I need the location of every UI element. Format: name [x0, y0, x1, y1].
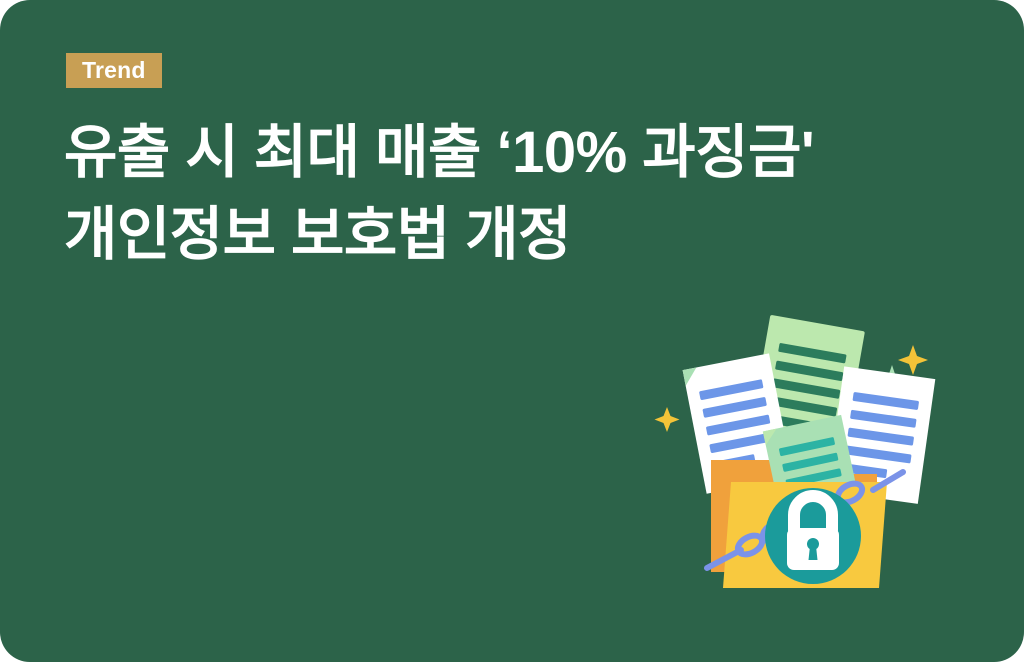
page-title: 유출 시 최대 매출 ‘10% 과징금' 개인정보 보호법 개정 — [64, 112, 964, 277]
trend-card: Trend 유출 시 최대 매출 ‘10% 과징금' 개인정보 보호법 개정 — [0, 0, 1024, 662]
sparkle-icon-yellow-right — [898, 345, 928, 375]
lock-icon — [765, 488, 861, 584]
sparkle-icon-yellow-left — [655, 407, 680, 432]
title-line-2: 개인정보 보호법 개정 — [64, 194, 964, 276]
trend-badge: Trend — [66, 53, 162, 88]
locked-folder-illustration — [645, 300, 955, 610]
title-line-1: 유출 시 최대 매출 ‘10% 과징금' — [64, 112, 964, 194]
